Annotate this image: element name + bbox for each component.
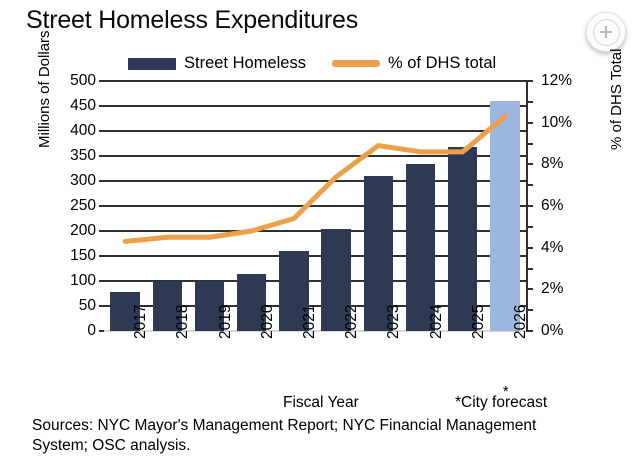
y-axis-right-tick-mark	[526, 247, 533, 249]
chart-legend: Street Homeless % of DHS total	[128, 54, 496, 73]
y-axis-left-tick-label: 200	[52, 223, 96, 239]
y-axis-right-tick-label: 10%	[541, 115, 572, 131]
y-axis-right-tick-mark	[526, 122, 533, 124]
y-axis-right-tick-mark	[526, 268, 533, 270]
y-axis-left-tick-label: 0	[52, 323, 96, 339]
y-axis-left-tick-label: 150	[52, 248, 96, 264]
plot-area	[104, 81, 526, 331]
legend-label-dhs-percent: % of DHS total	[388, 54, 496, 73]
zoom-in-button[interactable]	[586, 12, 626, 52]
x-axis-tick-label-2021: 2021	[301, 305, 319, 339]
x-axis-tick-label-2019: 2019	[217, 305, 235, 339]
sources-note: Sources: NYC Mayor's Management Report; …	[32, 416, 592, 456]
y-axis-right-tick-mark	[526, 143, 533, 145]
y-axis-right-tick-label: 4%	[541, 240, 563, 256]
x-axis-tick-label-2022: 2022	[343, 305, 361, 339]
x-axis-tick-label-2024: 2024	[428, 305, 446, 339]
y-axis-right-tick-mark	[526, 184, 533, 186]
y-axis-right-tick-label: 2%	[541, 281, 563, 297]
x-axis-tick-label-2026: 2026	[512, 305, 530, 339]
y-axis-left-tick-label: 350	[52, 148, 96, 164]
x-axis-tick-label-2025: 2025	[470, 305, 488, 339]
forecast-footnote: *City forecast	[455, 394, 547, 412]
y-axis-left-tick-label: 500	[52, 73, 96, 89]
legend-line-swatch-icon	[332, 60, 380, 67]
y-axis-left-tick-label: 400	[52, 123, 96, 139]
legend-label-street-homeless: Street Homeless	[184, 54, 306, 73]
y-axis-right-tick-mark	[526, 226, 533, 228]
y-axis-right-tick-label: 8%	[541, 156, 563, 172]
chart-screenshot: Street Homeless Expenditures Street Home…	[0, 0, 640, 460]
y-axis-right-tick-mark	[526, 163, 533, 165]
x-axis-tick-label-2023: 2023	[385, 305, 403, 339]
y-axis-left-title: Millions of Dollars	[36, 30, 53, 148]
y-axis-left-tick-label: 50	[52, 298, 96, 314]
plus-icon	[593, 19, 620, 46]
y-axis-left-tick-label: 100	[52, 273, 96, 289]
y-axis-right-title: % of DHS Total	[608, 49, 625, 150]
y-axis-right-tick-label: 12%	[541, 73, 572, 89]
dhs-percent-line	[125, 116, 505, 241]
x-axis-title: Fiscal Year	[283, 394, 359, 412]
legend-item-dhs-percent: % of DHS total	[332, 54, 496, 73]
y-axis-right-tick-mark	[526, 288, 533, 290]
legend-bar-swatch-icon	[128, 58, 176, 70]
y-axis-right-tick-mark	[526, 80, 533, 82]
y-axis-left-tick-label: 450	[52, 98, 96, 114]
legend-item-street-homeless: Street Homeless	[128, 54, 306, 73]
page-title: Street Homeless Expenditures	[26, 6, 358, 35]
y-axis-right-tick-mark	[526, 101, 533, 103]
line-series	[104, 81, 526, 331]
y-axis-left-tick-label: 300	[52, 173, 96, 189]
x-axis-tick-label-2017: 2017	[132, 305, 150, 339]
y-axis-right-tick-label: 6%	[541, 198, 563, 214]
x-axis-tick-label-2020: 2020	[259, 305, 277, 339]
y-axis-left-tick-label: 250	[52, 198, 96, 214]
y-axis-right-tick-label: 0%	[541, 323, 563, 339]
y-axis-right-tick-mark	[526, 205, 533, 207]
x-axis-tick-label-2018: 2018	[174, 305, 192, 339]
